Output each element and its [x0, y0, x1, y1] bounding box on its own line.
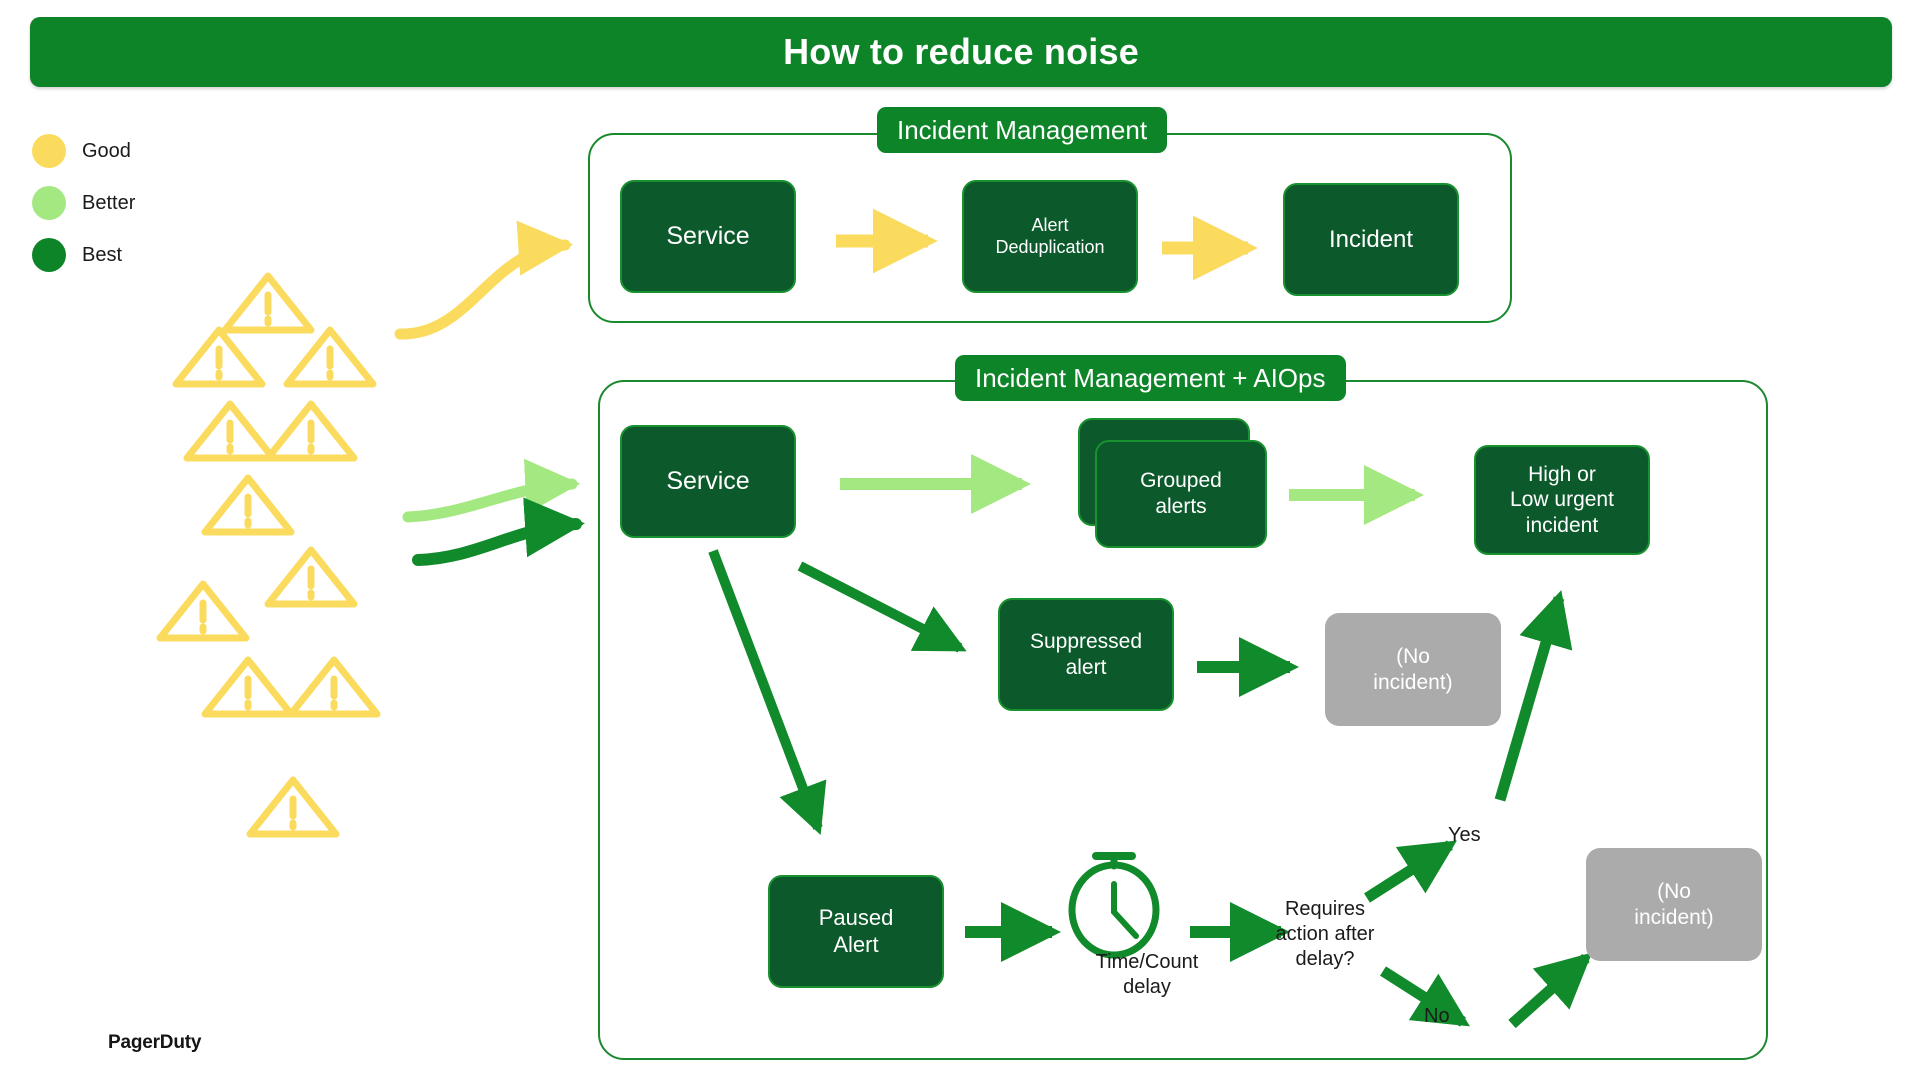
node-service-im-label: Service — [622, 221, 794, 252]
node-incident-label: Incident — [1285, 225, 1457, 254]
legend-label-best: Best — [82, 244, 122, 267]
arrow-alerts-to-service-aiops-better — [408, 484, 572, 517]
page-title: How to reduce noise — [783, 31, 1139, 73]
node-suppressed-alert-label: Suppressedalert — [1000, 629, 1172, 680]
warning-triangle-icon — [268, 550, 354, 604]
label-decision-requires-action: Requiresaction afterdelay? — [1230, 897, 1420, 972]
pagerduty-logo: PagerDuty — [108, 1032, 201, 1054]
node-alert-deduplication-label: AlertDeduplication — [964, 215, 1136, 259]
group-label-incident-management-aiops-text: Incident Management + AIOps — [975, 363, 1326, 394]
warning-triangle-icon — [187, 404, 273, 458]
node-alert-deduplication[interactable]: AlertDeduplication — [962, 180, 1138, 293]
node-paused-alert-label: PausedAlert — [770, 905, 942, 959]
legend-swatch-good — [32, 134, 66, 168]
warning-triangle-icon — [205, 660, 291, 714]
legend-item-best: Best — [32, 229, 135, 281]
warning-triangle-icon — [291, 660, 377, 714]
group-label-incident-management: Incident Management — [877, 107, 1167, 153]
node-service-aiops-label: Service — [622, 466, 794, 497]
node-paused-alert[interactable]: PausedAlert — [768, 875, 944, 988]
node-no-incident-bottom-label: (Noincident) — [1586, 879, 1762, 930]
group-label-incident-management-text: Incident Management — [897, 115, 1147, 146]
node-high-low-urgent-incident-label: High orLow urgentincident — [1476, 462, 1648, 539]
warning-triangle-icon — [176, 330, 262, 384]
group-label-incident-management-aiops: Incident Management + AIOps — [955, 355, 1346, 401]
node-grouped-alerts-label: Groupedalerts — [1097, 468, 1265, 519]
legend-item-good: Good — [32, 125, 135, 177]
node-suppressed-alert[interactable]: Suppressedalert — [998, 598, 1174, 711]
legend-swatch-best — [32, 238, 66, 272]
label-yes: Yes — [1448, 823, 1528, 848]
label-no: No — [1424, 1004, 1504, 1029]
page-title-banner: How to reduce noise — [30, 17, 1892, 87]
warning-triangle-icon — [287, 330, 373, 384]
legend: Good Better Best — [32, 125, 135, 281]
node-incident[interactable]: Incident — [1283, 183, 1459, 296]
warning-triangle-icon — [225, 276, 311, 330]
arrow-alerts-to-service-aiops-best — [418, 524, 576, 560]
warning-triangle-icon — [250, 780, 336, 834]
node-service-im[interactable]: Service — [620, 180, 796, 293]
legend-swatch-better — [32, 186, 66, 220]
warning-triangle-group — [160, 276, 377, 834]
legend-item-better: Better — [32, 177, 135, 229]
node-no-incident-top[interactable]: (Noincident) — [1325, 613, 1501, 726]
warning-triangle-icon — [268, 404, 354, 458]
node-service-aiops[interactable]: Service — [620, 425, 796, 538]
warning-triangle-icon — [205, 478, 291, 532]
node-grouped-alerts[interactable]: Groupedalerts — [1095, 440, 1267, 548]
label-time-count-delay: Time/Countdelay — [1052, 950, 1242, 1000]
node-no-incident-bottom[interactable]: (Noincident) — [1586, 848, 1762, 961]
node-no-incident-top-label: (Noincident) — [1325, 644, 1501, 695]
legend-label-better: Better — [82, 192, 135, 215]
legend-label-good: Good — [82, 140, 131, 163]
arrow-alerts-to-service-im — [400, 245, 565, 334]
node-high-low-urgent-incident[interactable]: High orLow urgentincident — [1474, 445, 1650, 555]
diagram-canvas: How to reduce noise Good Better Best Inc… — [0, 0, 1920, 1078]
warning-triangle-icon — [160, 584, 246, 638]
